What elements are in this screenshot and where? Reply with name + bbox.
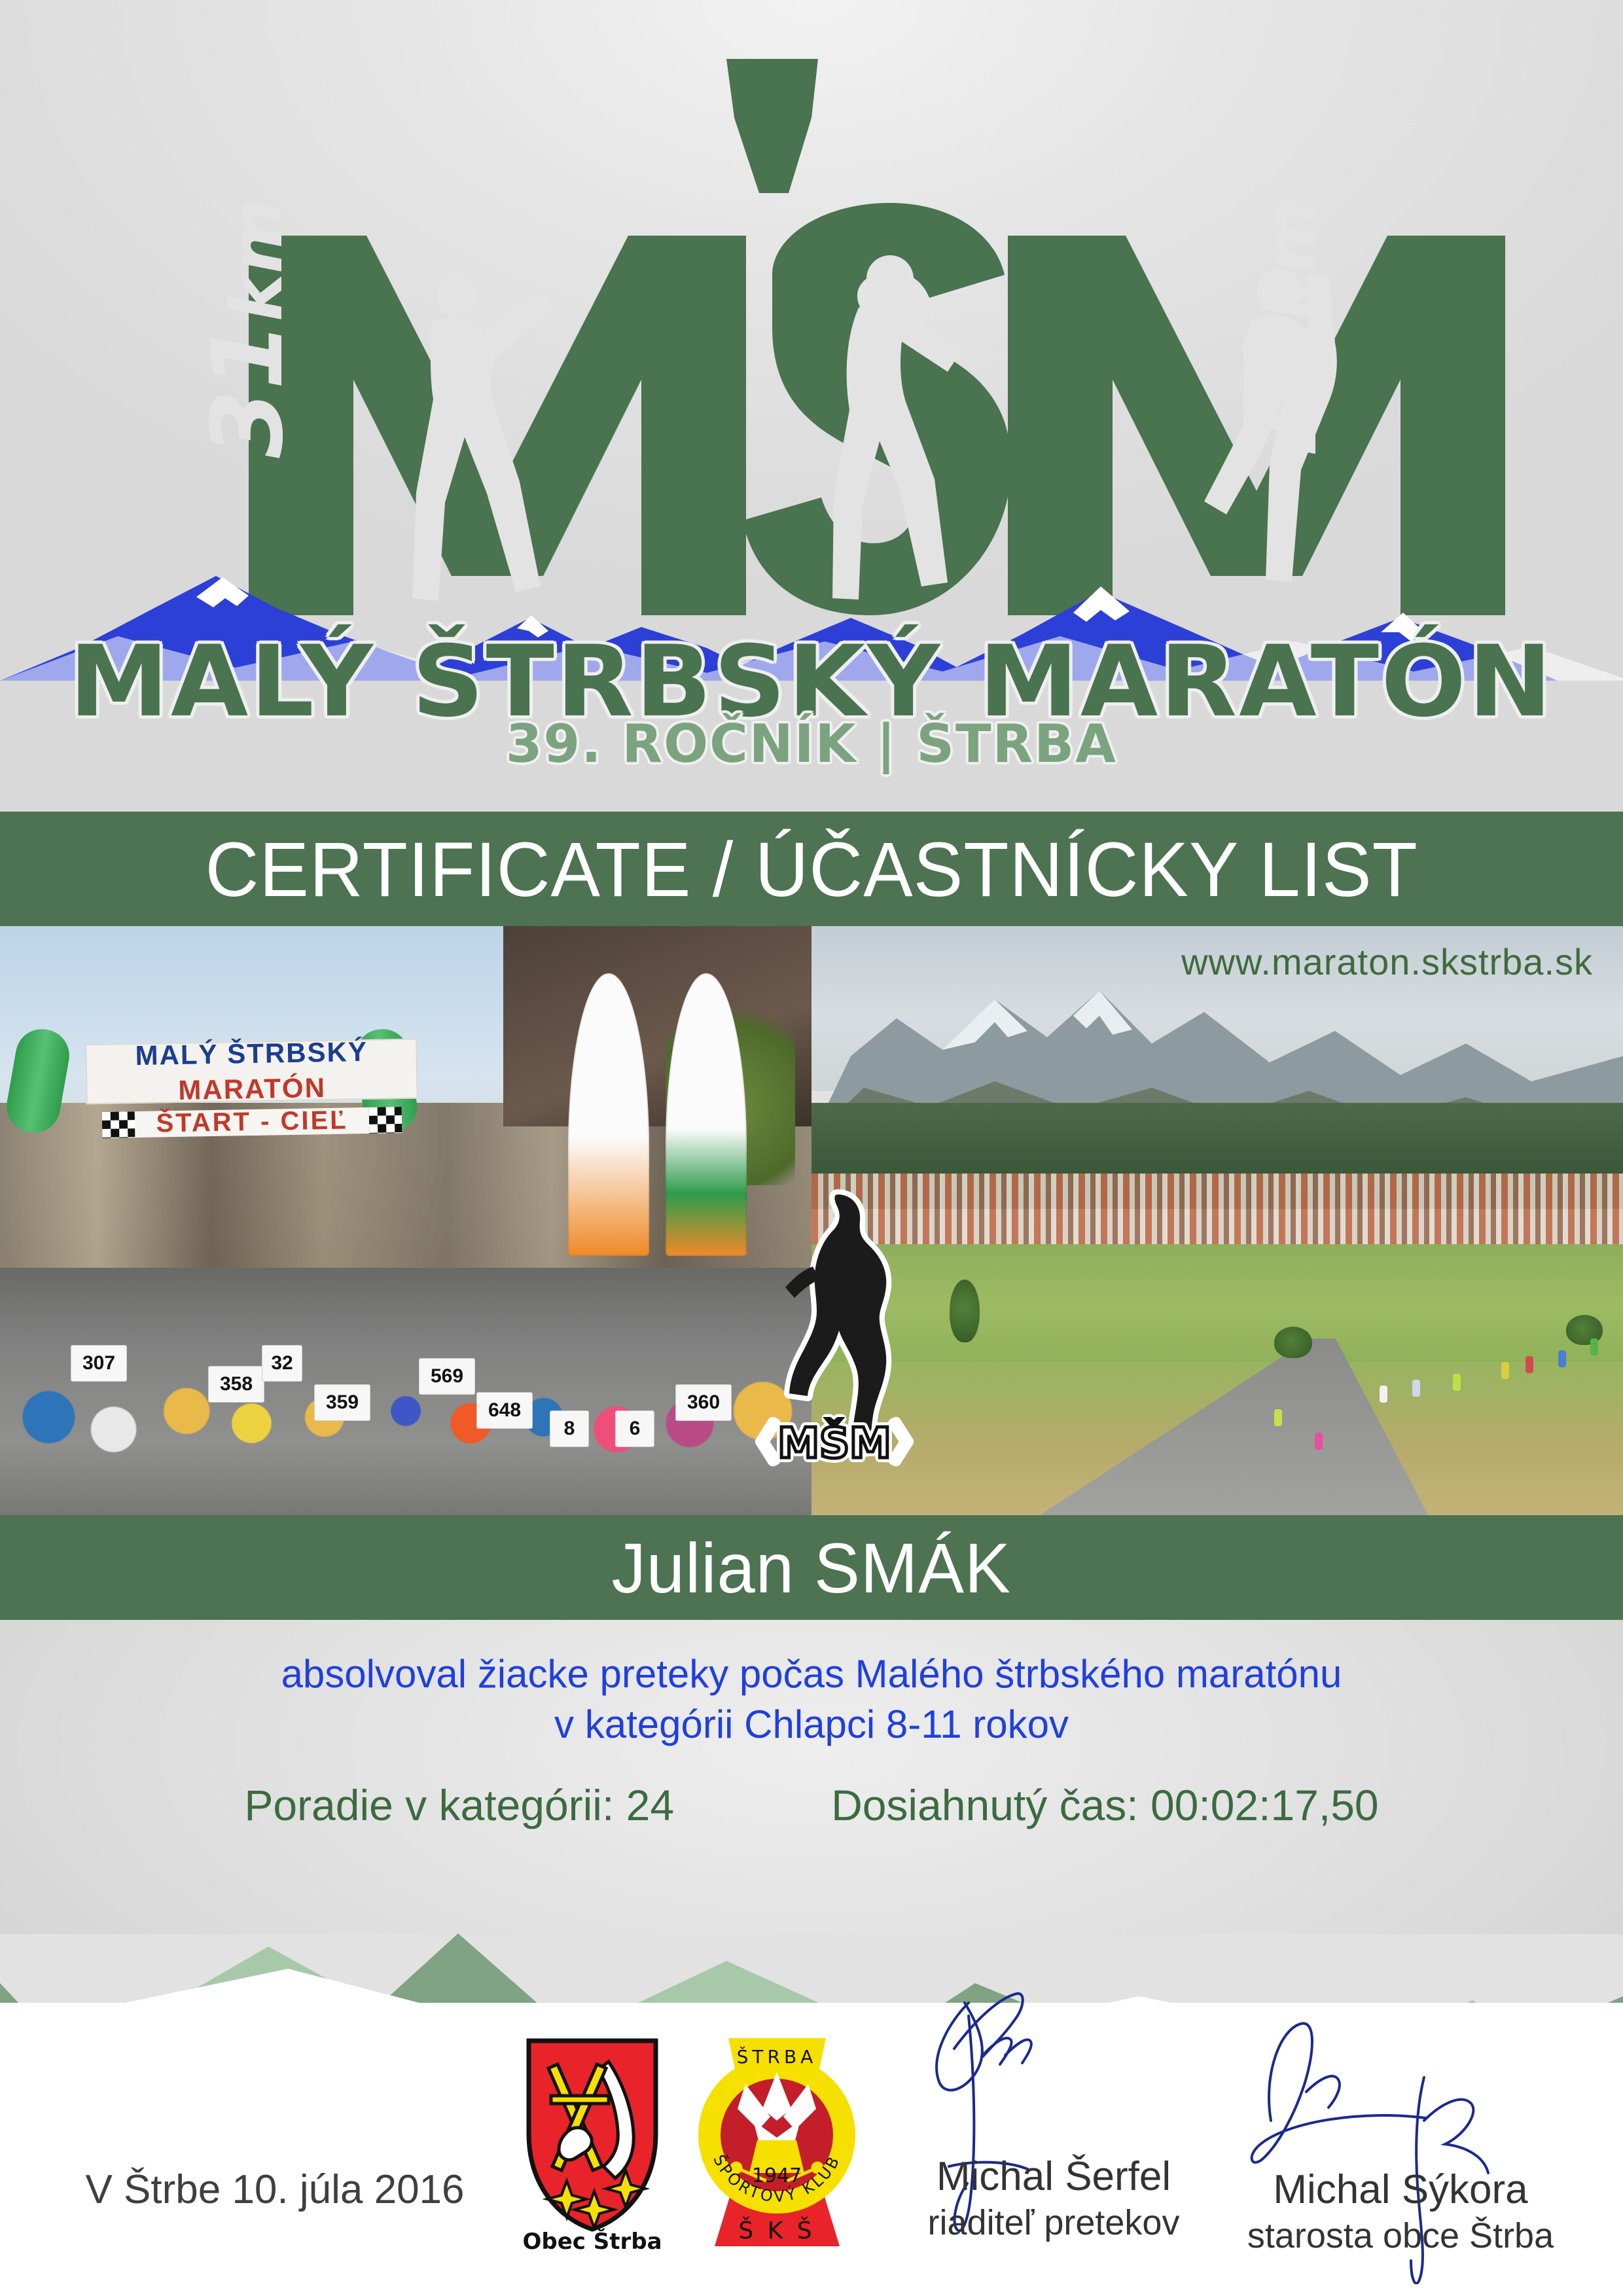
runner [1501,1362,1509,1379]
emblem-bottom-text: Š K Š [738,2217,815,2244]
runner [1558,1350,1566,1367]
emblem-top-text: ŠTRBA [737,2045,817,2068]
bib-number: 359 [314,1384,370,1421]
signature-role: starosta obce Štrba [1217,2215,1584,2256]
distance-left: 31km [191,198,305,458]
checker-left [101,1111,135,1138]
achievement-text: absolvoval žiacke preteky počas Malého š… [0,1649,1623,1750]
checker-right [368,1107,402,1134]
svg-text:10km: 10km [1225,198,1339,458]
runner [1453,1374,1461,1391]
emblem-year: 1947 [752,2164,802,2187]
signature-block-mayor: Michal Sýkora starosta obce Štrba [1217,2166,1584,2256]
signature-name: Michal Šerfel [870,2153,1237,2200]
bib-number: 6 [615,1410,654,1447]
photo-course-landscape: www.maraton.skstrba.sk [811,926,1623,1515]
svg-text:31km: 31km [191,198,305,458]
runner [1380,1386,1387,1403]
bib-number: 569 [419,1358,475,1395]
signature-name: Michal Sýkora [1217,2166,1584,2213]
runner [1315,1433,1323,1450]
inflatable-arch: MALÝ ŠTRBSKÝ MARATÓN ŠTART - CIEĽ [16,985,552,1185]
msm-wordmark: 31km 10km [0,39,1623,615]
arch-line1: MALÝ ŠTRBSKÝ [135,1035,368,1070]
signature-role: riaditeľ pretekov [870,2202,1237,2243]
photo-race-start: MALÝ ŠTRBSKÝ MARATÓN ŠTART - CIEĽ 307 35… [0,926,811,1515]
participant-name: Julian SMÁK [612,1527,1011,1609]
obec-strba-crest-icon: Obec Štrba [510,2036,674,2251]
bib-number: 307 [71,1345,127,1382]
runner [1412,1380,1420,1397]
website-url: www.maraton.skstrba.sk [1181,941,1593,983]
event-subtitle: 39. ROČNÍK | ŠTRBA [0,713,1623,774]
msm-runner-cutout-icon: 〈MŠM〉 MŠM [740,1175,929,1476]
result-row: Poradie v kategórii: 24 Dosiahnutý čas: … [0,1780,1623,1830]
footer: V Štrbe 10. júla 2016 Obec Štrba [0,2003,1623,2296]
achievement-line-1: absolvoval žiacke preteky počas Malého š… [0,1649,1623,1700]
bib-number: 32 [262,1345,302,1382]
distance-right: 10km [1225,198,1339,458]
start-finish-strip: ŠTART - CIEĽ [101,1107,402,1138]
runner [1525,1356,1533,1373]
cutout-label: MŠM [777,1418,891,1468]
crest-caption: Obec Štrba [522,2228,662,2251]
achievement-line-2: v kategórii Chlapci 8-11 rokov [0,1700,1623,1750]
roadside-bush [1274,1327,1312,1358]
arch-line2: MARATÓN [178,1072,326,1105]
runner [1590,1338,1598,1355]
certificate-page: 31km 10km MALÝ ŠTRBSKÝ MARATÓN 39. ROČNÍ… [0,0,1623,2296]
finish-time: Dosiahnutý čas: 00:02:17,50 [831,1780,1379,1830]
arch-banner: MALÝ ŠTRBSKÝ MARATÓN [85,1038,418,1104]
logo-area: 31km 10km MALÝ ŠTRBSKÝ MARATÓN 39. ROČNÍ… [0,0,1623,812]
participant-name-band: Julian SMÁK [0,1515,1623,1620]
signature-block-director: Michal Šerfel riaditeľ pretekov [870,2153,1237,2243]
issue-date: V Štrbe 10. júla 2016 [52,2166,497,2213]
bib-number: 8 [550,1410,589,1447]
category-rank: Poradie v kategórii: 24 [244,1780,674,1830]
msm-logo-svg: 31km 10km [0,39,1623,615]
certificate-title: CERTIFICATE / ÚČASTNÍCKY LIST [205,825,1418,914]
runner [1274,1409,1282,1426]
bib-number: 358 [208,1366,264,1403]
bib-number: 648 [476,1392,533,1429]
roadside-tree [950,1280,980,1342]
sks-club-emblem-icon: ŠTRBA 1947 ŠPORTOVÝ KLUB Š K Š [690,2029,864,2258]
certificate-title-band: CERTIFICATE / ÚČASTNÍCKY LIST [0,812,1623,928]
start-finish-text: ŠTART - CIEĽ [156,1106,348,1139]
bib-number: 360 [675,1384,732,1421]
